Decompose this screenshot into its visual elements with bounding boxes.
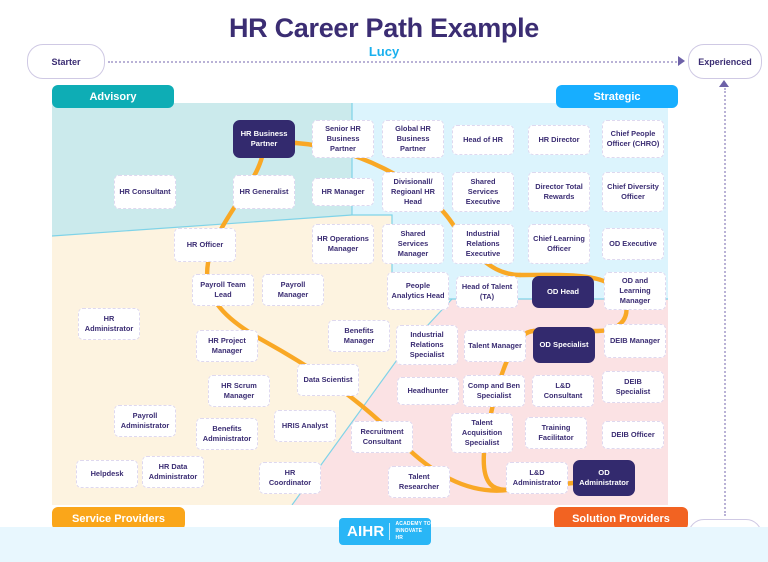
page-title: HR Career Path Example — [0, 13, 768, 44]
role-box[interactable]: Senior HR Business Partner — [312, 120, 374, 158]
quadrant-tab-strategic[interactable]: Strategic — [556, 85, 678, 108]
role-box[interactable]: OD Executive — [602, 228, 664, 260]
role-box[interactable]: Helpdesk — [76, 460, 138, 488]
vertical-axis-arrow-icon — [719, 80, 729, 87]
aihr-logo: AIHR ACADEMY TO INNOVATE HR — [339, 518, 431, 545]
role-box[interactable]: HR Generalist — [233, 175, 295, 209]
role-box[interactable]: Divisionall/ Regioanl HR Head — [382, 172, 444, 212]
role-box[interactable]: Talent Manager — [464, 330, 526, 362]
role-box[interactable]: OD Specialist — [533, 327, 595, 363]
region-advisory — [52, 103, 352, 236]
role-box[interactable]: DEIB Specialist — [602, 371, 664, 403]
role-box[interactable]: HR Data Administrator — [142, 456, 204, 488]
axis-pill-experienced: Experienced — [688, 44, 762, 79]
role-box[interactable]: DEIB Officer — [602, 421, 664, 449]
role-box[interactable]: L&D Administrator — [506, 462, 568, 494]
page-subtitle: Lucy — [0, 44, 768, 59]
role-box[interactable]: HR Operations Manager — [312, 224, 374, 264]
logo-tagline: ACADEMY TO INNOVATE HR — [395, 521, 431, 541]
role-box[interactable]: HR Director — [528, 125, 590, 155]
role-box[interactable]: Head of Talent (TA) — [456, 276, 518, 308]
role-box[interactable]: Benefits Administrator — [196, 418, 258, 450]
role-box[interactable]: Payroll Manager — [262, 274, 324, 306]
role-box[interactable]: Payroll Team Lead — [192, 274, 254, 306]
role-box[interactable]: Talent Researcher — [388, 466, 450, 498]
role-box[interactable]: Chief People Officer (CHRO) — [602, 120, 664, 158]
role-box[interactable]: Director Total Rewards — [528, 172, 590, 212]
role-box[interactable]: Headhunter — [397, 377, 459, 405]
role-box[interactable]: Shared Services Manager — [382, 224, 444, 264]
role-box[interactable]: Training Facilitator — [525, 417, 587, 449]
role-box[interactable]: HR Scrum Manager — [208, 375, 270, 407]
role-box[interactable]: DEIB Manager — [604, 324, 666, 358]
role-box[interactable]: Data Scientist — [297, 364, 359, 396]
role-box[interactable]: Shared Services Executive — [452, 172, 514, 212]
role-box[interactable]: HR Officer — [174, 228, 236, 262]
horizontal-axis-line — [108, 61, 680, 63]
role-box[interactable]: Payroll Administrator — [114, 405, 176, 437]
quadrant-tab-advisory[interactable]: Advisory — [52, 85, 174, 108]
axis-pill-starter-top: Starter — [27, 44, 105, 79]
logo-tagline-line1: ACADEMY TO — [395, 521, 431, 528]
role-box[interactable]: HR Business Partner — [233, 120, 295, 158]
role-box[interactable]: Talent Acquisition Specialist — [451, 413, 513, 453]
role-box[interactable]: OD Head — [532, 276, 594, 308]
role-box[interactable]: Benefits Manager — [328, 320, 390, 352]
vertical-axis-line — [724, 88, 726, 516]
logo-tagline-line2: INNOVATE HR — [395, 528, 431, 542]
role-box[interactable]: Recruitment Consultant — [351, 421, 413, 453]
role-box[interactable]: OD Administrator — [573, 460, 635, 496]
role-box[interactable]: L&D Consultant — [532, 375, 594, 407]
role-box[interactable]: Global HR Business Partner — [382, 120, 444, 158]
role-box[interactable]: HR Consultant — [114, 175, 176, 209]
role-box[interactable]: Chief Learning Officer — [528, 224, 590, 264]
logo-wordmark: AIHR — [339, 523, 384, 540]
role-box[interactable]: Industrial Relations Executive — [452, 224, 514, 264]
role-box[interactable]: Industrial Relations Specialist — [396, 325, 458, 365]
role-box[interactable]: HR Project Manager — [196, 330, 258, 362]
horizontal-axis-arrow-icon — [678, 56, 685, 66]
role-box[interactable]: People Analytics Head — [387, 272, 449, 310]
page-root: HR Career Path Example Lucy Starter Expe… — [0, 0, 768, 562]
role-box[interactable]: Head of HR — [452, 125, 514, 155]
role-box[interactable]: HR Manager — [312, 178, 374, 206]
role-box[interactable]: HR Coordinator — [259, 462, 321, 494]
role-box[interactable]: HRIS Analyst — [274, 410, 336, 442]
role-box[interactable]: OD and Learning Manager — [604, 272, 666, 310]
role-box[interactable]: Chief Diversity Officer — [602, 172, 664, 212]
role-box[interactable]: Comp and Ben Specialist — [463, 375, 525, 407]
logo-divider — [389, 523, 390, 540]
role-box[interactable]: HR Administrator — [78, 308, 140, 340]
